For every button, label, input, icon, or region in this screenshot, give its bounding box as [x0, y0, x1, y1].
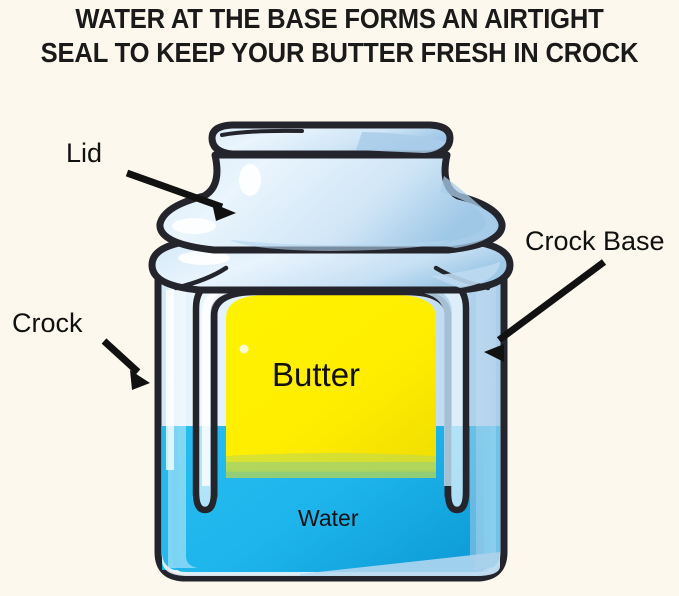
annotation-label-lid: Lid — [66, 138, 102, 169]
butter-sparkle — [240, 345, 249, 354]
crock-arrow — [104, 341, 150, 390]
lid-highlight-lower — [172, 218, 216, 234]
crock-body-right-shadow — [470, 276, 500, 572]
lid-highlight-upper — [239, 164, 261, 196]
butter-label: Butter — [272, 356, 360, 394]
lid-group — [160, 125, 502, 251]
water-label: Water — [298, 505, 359, 532]
butter-interface-blend — [226, 453, 436, 470]
illustration-canvas: WATER AT THE BASE FORMS AN AIRTIGHT SEAL… — [0, 0, 679, 596]
annotation-label-crock: Crock — [12, 308, 83, 339]
crock-left-edge-highlight — [166, 290, 174, 470]
annotation-label-crock-base: Crock Base — [525, 226, 665, 257]
